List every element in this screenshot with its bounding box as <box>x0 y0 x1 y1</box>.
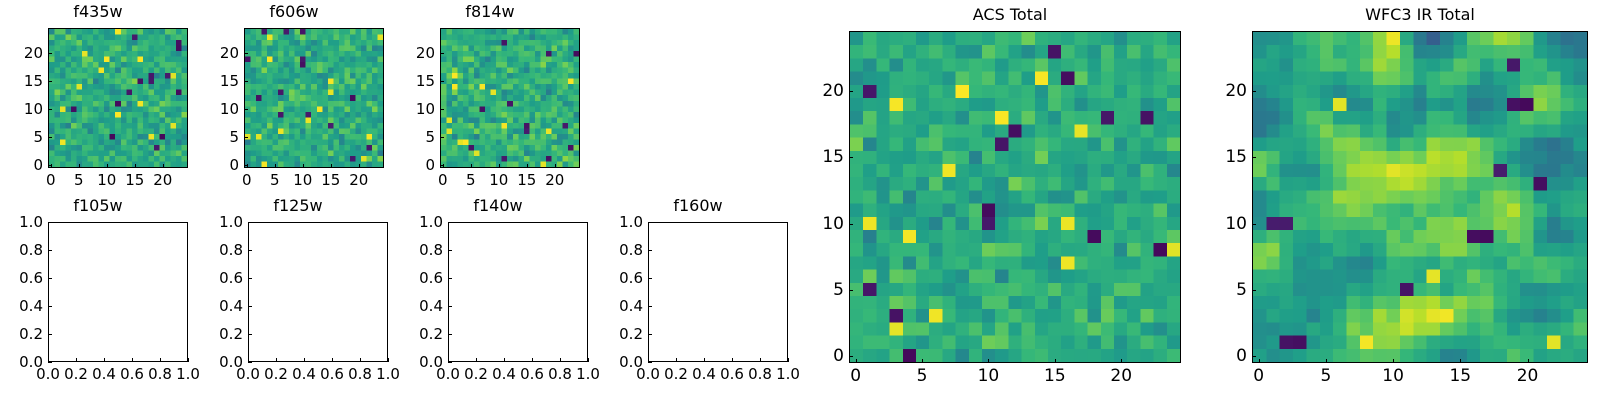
y-tick-label: 20 <box>1225 81 1247 101</box>
plot-area-f125w[interactable] <box>248 222 388 362</box>
x-tick-label: 0.6 <box>320 365 344 383</box>
x-tick <box>76 358 77 362</box>
y-tick-label: 0.0 <box>419 353 443 371</box>
plot-area-f160w[interactable] <box>648 222 788 362</box>
y-tick <box>448 278 452 279</box>
y-tick <box>448 222 452 223</box>
x-tick <box>1121 359 1122 363</box>
x-tick <box>1055 359 1056 363</box>
y-tick-label: 15 <box>1225 147 1247 167</box>
y-tick <box>448 334 452 335</box>
x-tick-label: 1.0 <box>776 365 800 383</box>
plot-area-f140w[interactable] <box>448 222 588 362</box>
y-tick <box>48 222 52 223</box>
x-tick <box>732 358 733 362</box>
x-tick-label: 0.4 <box>492 365 516 383</box>
y-tick <box>1252 356 1256 357</box>
x-tick-label: 0.8 <box>348 365 372 383</box>
x-tick <box>476 358 477 362</box>
y-tick-label: 20 <box>822 81 844 101</box>
x-tick <box>188 358 189 362</box>
x-tick <box>504 358 505 362</box>
x-tick-label: 0.6 <box>720 365 744 383</box>
x-tick-label: 0.6 <box>120 365 144 383</box>
x-tick-label: 15 <box>1044 366 1066 386</box>
x-tick-label: 10 <box>1382 366 1404 386</box>
x-tick-label: 1.0 <box>576 365 600 383</box>
y-tick-label: 0.6 <box>19 269 43 287</box>
x-tick-label: 20 <box>1110 366 1132 386</box>
y-tick <box>448 362 452 363</box>
y-tick-label: 15 <box>822 147 844 167</box>
y-tick-label: 0.4 <box>19 297 43 315</box>
heatmap-wfc3-ir-total <box>1253 32 1587 362</box>
y-tick-label: 10 <box>1225 214 1247 234</box>
y-tick <box>248 250 252 251</box>
y-tick-label: 5 <box>1236 280 1247 300</box>
y-tick-label: 0 <box>1236 346 1247 366</box>
y-tick <box>48 362 52 363</box>
x-tick-label: 0.4 <box>692 365 716 383</box>
panel-f125w: f125w 0.00.20.40.60.81.00.00.20.40.60.81… <box>200 0 396 400</box>
x-tick <box>560 358 561 362</box>
y-tick-label: 0.4 <box>419 297 443 315</box>
y-tick-label: 1.0 <box>619 213 643 231</box>
y-tick <box>1252 157 1256 158</box>
y-tick-label: 1.0 <box>19 213 43 231</box>
y-tick-label: 0.0 <box>619 353 643 371</box>
x-tick <box>388 358 389 362</box>
y-tick-label: 0.6 <box>619 269 643 287</box>
x-tick <box>132 358 133 362</box>
x-tick <box>1460 359 1461 363</box>
panel-acs-total: ACS Total 0510152005101520 <box>800 0 1190 400</box>
y-tick-label: 0.8 <box>419 241 443 259</box>
x-tick <box>704 358 705 362</box>
y-tick <box>448 250 452 251</box>
x-tick <box>988 359 989 363</box>
x-tick <box>104 358 105 362</box>
x-tick <box>922 359 923 363</box>
y-tick <box>248 306 252 307</box>
y-tick <box>48 250 52 251</box>
x-tick-label: 0.8 <box>748 365 772 383</box>
y-tick-label: 0.6 <box>419 269 443 287</box>
x-tick-label: 0.8 <box>148 365 172 383</box>
y-tick-label: 0.2 <box>619 325 643 343</box>
panel-f160w: f160w 0.00.20.40.60.81.00.00.20.40.60.81… <box>600 0 796 400</box>
x-tick <box>276 358 277 362</box>
y-tick <box>849 91 853 92</box>
x-tick <box>788 358 789 362</box>
y-tick <box>448 306 452 307</box>
x-tick <box>360 358 361 362</box>
y-tick-label: 0.0 <box>19 353 43 371</box>
y-tick <box>648 306 652 307</box>
y-tick-label: 10 <box>822 214 844 234</box>
x-tick <box>1528 359 1529 363</box>
panel-f140w: f140w 0.00.20.40.60.81.00.00.20.40.60.81… <box>400 0 596 400</box>
y-tick <box>648 334 652 335</box>
x-tick-label: 0.2 <box>264 365 288 383</box>
panel-title-acs-total: ACS Total <box>849 5 1171 24</box>
y-tick <box>849 356 853 357</box>
y-tick <box>648 278 652 279</box>
x-tick-label: 0.4 <box>92 365 116 383</box>
x-tick <box>1326 359 1327 363</box>
x-tick-label: 0.2 <box>64 365 88 383</box>
y-tick <box>648 362 652 363</box>
y-tick <box>1252 91 1256 92</box>
x-tick <box>760 358 761 362</box>
y-tick-label: 1.0 <box>219 213 243 231</box>
y-tick <box>1252 290 1256 291</box>
x-tick <box>304 358 305 362</box>
plot-area-acs-total[interactable] <box>849 31 1181 363</box>
y-tick-label: 0.8 <box>219 241 243 259</box>
y-tick <box>849 157 853 158</box>
x-tick-label: 0.2 <box>664 365 688 383</box>
x-tick-label: 15 <box>1449 366 1471 386</box>
y-tick <box>248 278 252 279</box>
y-tick-label: 0.6 <box>219 269 243 287</box>
y-tick <box>248 362 252 363</box>
y-tick-label: 5 <box>833 280 844 300</box>
x-tick-label: 1.0 <box>176 365 200 383</box>
y-tick <box>648 222 652 223</box>
panel-wfc3-ir-total: WFC3 IR Total 0510152005101520 <box>1200 0 1600 400</box>
y-tick <box>248 334 252 335</box>
x-tick-label: 0 <box>850 366 861 386</box>
y-tick <box>849 290 853 291</box>
x-tick <box>1259 359 1260 363</box>
x-tick-label: 1.0 <box>376 365 400 383</box>
y-tick-label: 1.0 <box>419 213 443 231</box>
x-tick <box>856 359 857 363</box>
x-tick <box>1393 359 1394 363</box>
y-tick-label: 0.0 <box>219 353 243 371</box>
x-tick-label: 0.8 <box>548 365 572 383</box>
y-tick-label: 0 <box>833 346 844 366</box>
y-tick <box>849 224 853 225</box>
x-tick-label: 20 <box>1517 366 1539 386</box>
y-tick-label: 0.2 <box>19 325 43 343</box>
plot-area-f105w[interactable] <box>48 222 188 362</box>
x-tick-label: 0.2 <box>464 365 488 383</box>
y-tick-label: 0.2 <box>219 325 243 343</box>
y-tick-label: 0.8 <box>19 241 43 259</box>
heatmap-acs-total <box>850 32 1180 362</box>
x-tick-label: 0.6 <box>520 365 544 383</box>
y-tick <box>1252 224 1256 225</box>
plot-area-wfc3-ir-total[interactable] <box>1252 31 1588 363</box>
x-tick <box>676 358 677 362</box>
y-tick-label: 0.4 <box>219 297 243 315</box>
panel-title-wfc3-ir-total: WFC3 IR Total <box>1252 5 1588 24</box>
x-tick <box>532 358 533 362</box>
y-tick <box>48 306 52 307</box>
x-tick <box>588 358 589 362</box>
x-tick-label: 0.4 <box>292 365 316 383</box>
x-tick <box>332 358 333 362</box>
x-tick-label: 10 <box>978 366 1000 386</box>
panel-f105w: f105w 0.00.20.40.60.81.00.00.20.40.60.81… <box>0 0 196 400</box>
x-tick-label: 5 <box>917 366 928 386</box>
y-tick-label: 0.8 <box>619 241 643 259</box>
x-tick-label: 5 <box>1320 366 1331 386</box>
x-tick-label: 0 <box>1253 366 1264 386</box>
y-tick <box>648 250 652 251</box>
y-tick <box>48 278 52 279</box>
y-tick <box>48 334 52 335</box>
y-tick-label: 0.4 <box>619 297 643 315</box>
y-tick <box>248 222 252 223</box>
y-tick-label: 0.2 <box>419 325 443 343</box>
x-tick <box>160 358 161 362</box>
